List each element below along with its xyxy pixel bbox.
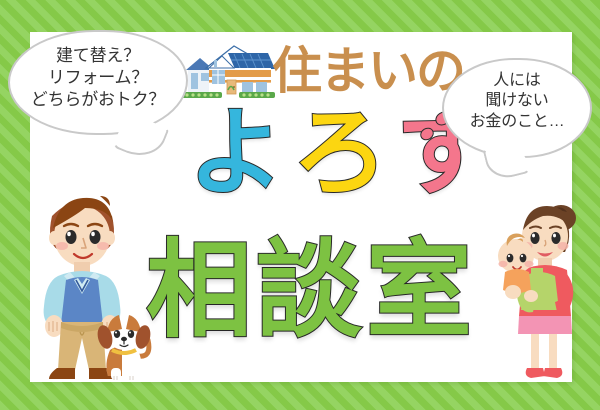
house-with-solar-panels-icon: [176, 40, 280, 104]
bubble-left-line-1: 建て替え？: [10, 45, 186, 67]
speech-bubble-right: 人には 聞けない お金のこと…: [442, 58, 592, 158]
subtitle-soudanshitsu: 相談室: [146, 238, 476, 344]
bubble-left-line-2: リフォーム？: [10, 67, 186, 89]
bubble-right-line-1: 人には: [444, 71, 590, 91]
bubble-left-line-3: どちらがおトク？: [10, 89, 186, 111]
speech-bubble-left: 建て替え？ リフォーム？ どちらがおトク？: [8, 30, 188, 135]
brand-headline: 住まいの: [272, 46, 464, 96]
poster-canvas: 住まいの よろす 相談室 建て替え？ リフォーム？ どちらがおトク？ 人には 聞…: [0, 0, 600, 410]
mother-holding-baby-illustration: [487, 196, 587, 386]
bubble-right-line-2: 聞けない: [444, 91, 590, 111]
sitting-beagle-dog-illustration: [96, 312, 152, 384]
title-char-ro: ろ: [292, 100, 396, 207]
title-char-yo: よ: [188, 100, 292, 207]
bubble-right-line-3: お金のこと…: [444, 112, 590, 132]
speech-bubble-right-tail-mask: [488, 146, 523, 160]
